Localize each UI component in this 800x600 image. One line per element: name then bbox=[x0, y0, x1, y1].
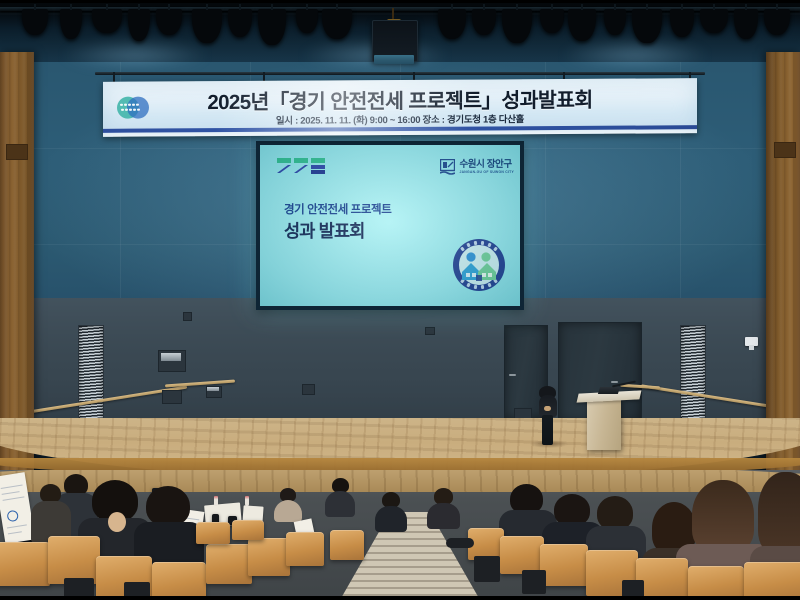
auditorium-seat bbox=[540, 544, 588, 586]
ceiling bbox=[0, 0, 800, 62]
wall-outlet-box-left bbox=[162, 390, 182, 404]
slide-surface: 수원시 장안구 JANGAN-GU OF SUWON CITY 경기 안전전세 … bbox=[260, 145, 520, 306]
paper-line bbox=[2, 491, 20, 495]
suwon-logo-text: 수원시 장안구 JANGAN-GU OF SUWON CITY bbox=[459, 160, 514, 174]
jangan-gu-suwon-logo: 수원시 장안구 JANGAN-GU OF SUWON CITY bbox=[440, 157, 514, 178]
bottom-edge-bar bbox=[0, 596, 800, 600]
auditorium-seat bbox=[232, 520, 264, 540]
wooden-lectern bbox=[587, 398, 621, 450]
person-head bbox=[146, 486, 190, 526]
projection-screen: 수원시 장안구 JANGAN-GU OF SUWON CITY 경기 안전전세 … bbox=[256, 141, 524, 310]
audience-member bbox=[34, 484, 68, 536]
suwon-crest-icon bbox=[440, 159, 455, 176]
attendee-shoe bbox=[446, 538, 474, 548]
audience-member bbox=[378, 492, 406, 524]
auditorium-seat bbox=[688, 566, 744, 600]
top-edge-bar bbox=[0, 0, 800, 3]
person-head bbox=[597, 496, 633, 530]
banner-hanger bbox=[113, 72, 115, 82]
paper-seal-icon bbox=[6, 510, 19, 523]
seat-shadow bbox=[474, 556, 500, 582]
wall-vent-grille-left bbox=[78, 325, 104, 423]
wall-sign-plate-left bbox=[6, 144, 28, 160]
door-handle[interactable] bbox=[509, 374, 516, 376]
ceiling-glow-left bbox=[60, 40, 210, 70]
projector-lens bbox=[374, 55, 414, 64]
auditorium-seat bbox=[330, 530, 364, 560]
wall-sign-plate-right bbox=[774, 142, 796, 158]
audience-member bbox=[328, 478, 354, 510]
person-body bbox=[274, 500, 302, 522]
banner-rod bbox=[95, 72, 705, 75]
audience-member bbox=[276, 488, 302, 518]
presenter-bowing bbox=[537, 386, 559, 446]
audience-member bbox=[430, 488, 458, 520]
paper-line bbox=[3, 496, 25, 500]
audience-area bbox=[0, 470, 800, 600]
event-banner: 2025년「경기 안전전세 프로젝트」성과발표회 일시 : 2025. 11. … bbox=[103, 76, 697, 135]
water-bottle bbox=[245, 496, 249, 506]
suwon-logo-korean: 수원시 장안구 bbox=[459, 160, 514, 170]
gyeonggi-province-bars-logo bbox=[276, 157, 326, 179]
paper-line bbox=[8, 531, 22, 534]
auditorium-seat bbox=[152, 562, 206, 600]
wall-panel-display bbox=[161, 353, 181, 361]
presenter-hands bbox=[544, 406, 551, 411]
person-head bbox=[758, 472, 800, 554]
surveillance-camera bbox=[745, 337, 758, 346]
slide-title: 성과 발표회 bbox=[284, 218, 365, 243]
banner-cloth: 2025년「경기 안전전세 프로젝트」성과발표회 일시 : 2025. 11. … bbox=[103, 78, 697, 137]
person-body bbox=[325, 491, 355, 517]
wall-sensor-left bbox=[183, 312, 192, 321]
wall-sensor-center bbox=[425, 327, 435, 335]
wall-vent-grille-right bbox=[680, 325, 706, 423]
seat-shadow bbox=[522, 570, 546, 594]
auditorium-seat bbox=[286, 532, 324, 566]
ceiling-glow-right bbox=[560, 40, 710, 70]
auditorium-seat bbox=[744, 562, 800, 600]
audience-hand bbox=[108, 512, 128, 534]
auditorium-seat bbox=[248, 538, 290, 576]
person-body bbox=[427, 503, 460, 529]
conference-hall-photo: 2025년「경기 안전전세 프로젝트」성과발표회 일시 : 2025. 11. … bbox=[0, 0, 800, 600]
paper-line bbox=[7, 524, 27, 528]
person-hand bbox=[108, 512, 126, 532]
lectern-monitor bbox=[598, 387, 620, 394]
banner-subtitle: 일시 : 2025. 11. 11. (화) 9:00 ~ 16:00 장소 :… bbox=[103, 110, 697, 128]
auditorium-seat bbox=[0, 542, 50, 586]
suwon-logo-english: JANGAN-GU OF SUWON CITY bbox=[459, 171, 514, 174]
water-bottle bbox=[214, 496, 218, 506]
person-head bbox=[692, 480, 754, 552]
presenter-legs bbox=[542, 415, 553, 445]
paper-line bbox=[1, 485, 23, 489]
auditorium-seat bbox=[206, 544, 252, 584]
auditorium-seat bbox=[500, 536, 544, 574]
wall-plate-center bbox=[302, 384, 315, 395]
slide-subtitle: 경기 안전전세 프로젝트 bbox=[284, 201, 391, 217]
person-body bbox=[375, 506, 407, 532]
door-handle[interactable] bbox=[611, 381, 618, 383]
jeonse-safety-circular-emblem bbox=[452, 238, 506, 292]
wall-plate-face bbox=[207, 387, 219, 391]
auditorium-seat bbox=[48, 536, 100, 584]
auditorium-seat bbox=[196, 522, 230, 544]
